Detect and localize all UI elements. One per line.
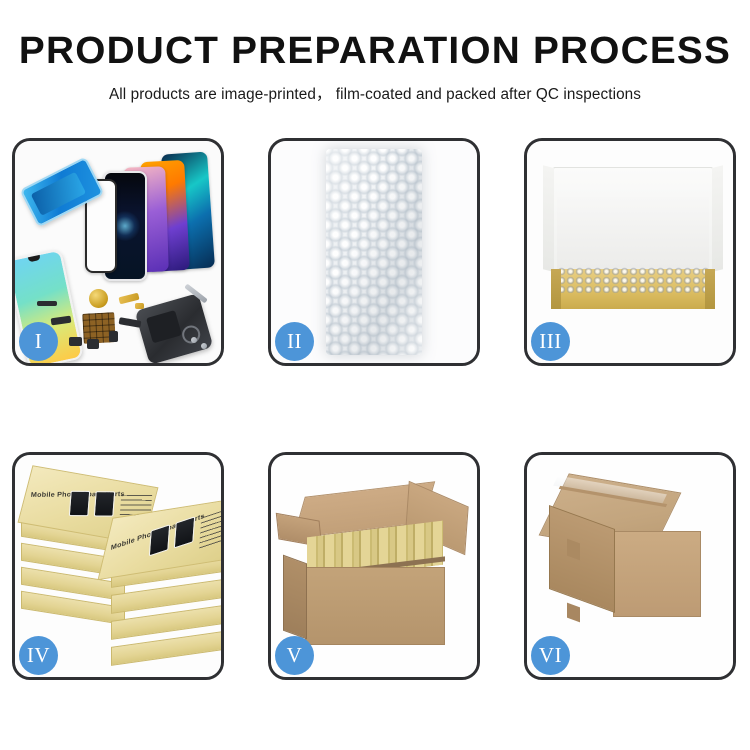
box-corner-left: [551, 269, 561, 309]
step-panel-4[interactable]: Mobile Phone Spare Parts Mobile Phone Sp…: [12, 452, 224, 680]
box-art-phone-a2: [94, 491, 115, 516]
part-gold-small: [135, 303, 144, 309]
product-preparation-process-page: PRODUCT PREPARATION PROCESS All products…: [0, 0, 750, 750]
part-screw-b: [201, 343, 207, 349]
step-badge-2: II: [275, 322, 314, 361]
step-badge-3: III: [531, 322, 570, 361]
part-screw-a: [191, 337, 197, 343]
carton-front-face: [305, 567, 445, 645]
page-header: PRODUCT PREPARATION PROCESS All products…: [0, 30, 750, 104]
step-panel-6[interactable]: VI: [524, 452, 736, 680]
step-badge-5: V: [275, 636, 314, 675]
box-corner-right: [705, 269, 715, 309]
step-badge-6: VI: [531, 636, 570, 675]
box-art-phone-b2: [174, 516, 195, 548]
step-panel-2[interactable]: II: [268, 138, 480, 366]
bubble-wrap-package: [326, 149, 422, 355]
box-art-phone-b1: [149, 524, 170, 556]
step-panel-5[interactable]: V: [268, 452, 480, 680]
part-vibrator: [109, 331, 118, 342]
part-earpiece-mesh: [37, 301, 57, 306]
step-panel-3[interactable]: III: [524, 138, 736, 366]
part-camera-module: [87, 339, 99, 349]
box-art-phone-a1: [69, 491, 90, 516]
step-badge-1: I: [19, 322, 58, 361]
speaker-part-icon: [89, 289, 108, 308]
page-subtitle: All products are image-printed， film-coa…: [0, 82, 750, 104]
carton-side-face: [283, 555, 307, 640]
part-button-set: [69, 337, 82, 346]
page-title: PRODUCT PREPARATION PROCESS: [0, 30, 750, 73]
box-foam-liner: [557, 197, 709, 269]
bubble-wrapped-contents: [557, 267, 709, 293]
sealed-carton-front: [613, 531, 701, 617]
process-steps-grid: I II III: [12, 138, 738, 681]
step-badge-4: IV: [19, 636, 58, 675]
step-panel-1[interactable]: I: [12, 138, 224, 366]
